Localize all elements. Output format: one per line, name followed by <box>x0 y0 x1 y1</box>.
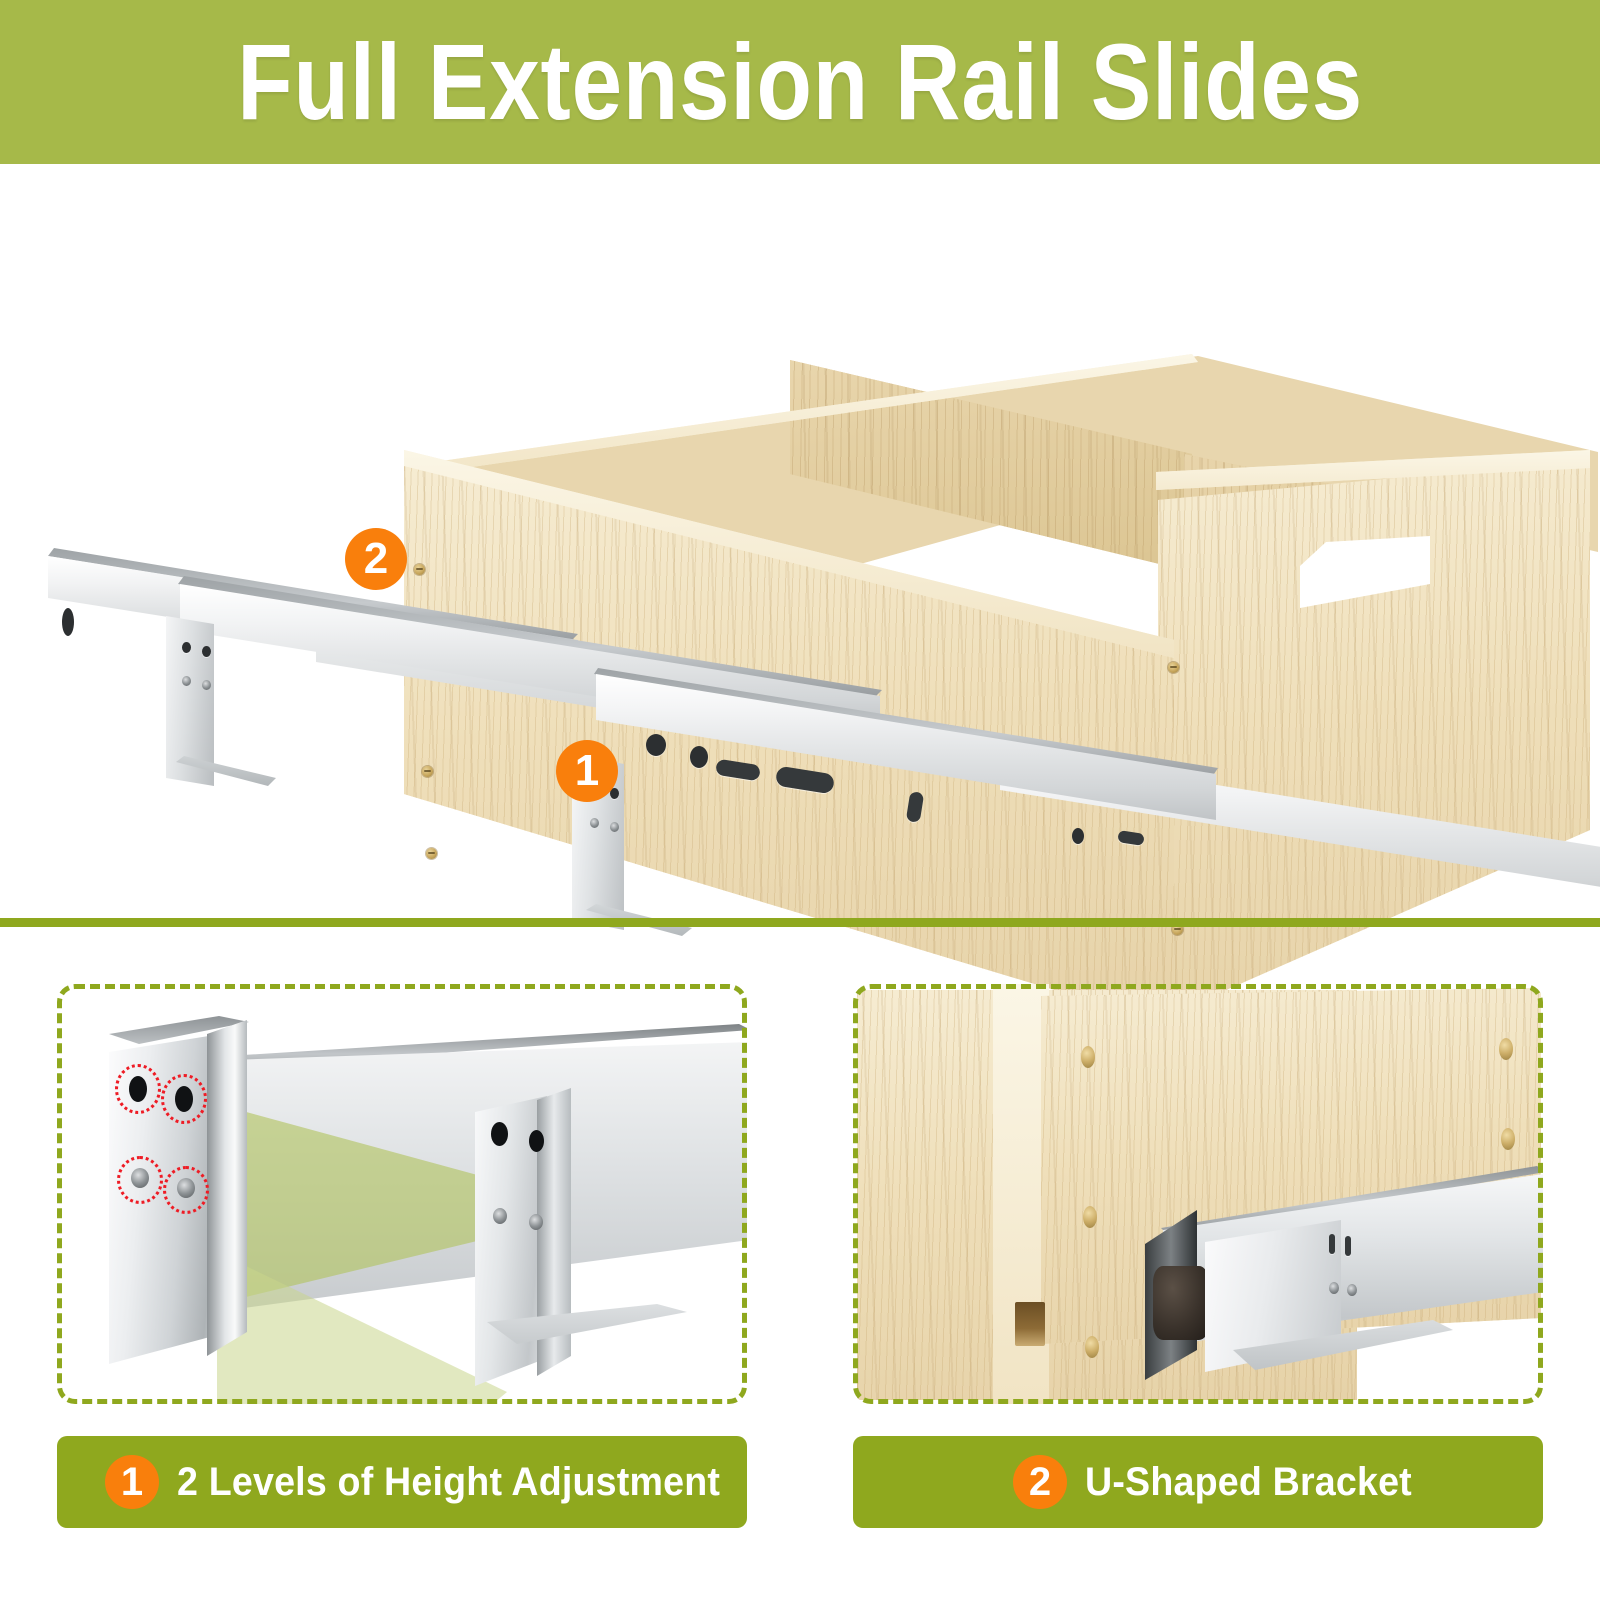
drawer-screw <box>1168 662 1179 673</box>
bracket-hole <box>202 646 211 657</box>
section-divider <box>0 918 1600 927</box>
bracket-screw <box>610 822 619 832</box>
bracket-screw <box>182 676 191 686</box>
bracket-hole <box>182 642 191 653</box>
caption-label-2: U-Shaped Bracket <box>1085 1460 1412 1505</box>
caption-label-1: 2 Levels of Height Adjustment <box>177 1460 720 1505</box>
panel-dashed-border <box>853 984 1543 1404</box>
rail-hole <box>62 608 74 636</box>
panel-dashed-border <box>57 984 747 1404</box>
page-title: Full Extension Rail Slides <box>237 28 1363 136</box>
hero-callout-badge-1[interactable]: 1 <box>556 740 618 802</box>
hero-callout-badge-2[interactable]: 2 <box>345 528 407 590</box>
caption-bar-1: 1 2 Levels of Height Adjustment <box>57 1436 747 1528</box>
feature-panel-u-shaped-bracket: 2 U-Shaped Bracket <box>853 956 1543 1536</box>
bracket-screw <box>590 818 599 828</box>
drawer-screw <box>414 564 425 575</box>
rail-hole <box>646 734 666 756</box>
bracket-screw <box>202 680 211 690</box>
caption-bar-2: 2 U-Shaped Bracket <box>853 1436 1543 1528</box>
drawer-screw <box>422 766 433 777</box>
header-bar: Full Extension Rail Slides <box>0 0 1600 164</box>
product-infographic: Full Extension Rail Slides <box>0 0 1600 1600</box>
caption-badge-2: 2 <box>1013 1455 1067 1509</box>
rail-hole <box>1072 828 1084 844</box>
hero-illustration: 2 1 <box>0 164 1600 920</box>
caption-badge-1: 1 <box>105 1455 159 1509</box>
drawer-screw <box>426 848 437 859</box>
feature-panel-height-adjustment: 1 2 Levels of Height Adjustment <box>57 956 747 1536</box>
